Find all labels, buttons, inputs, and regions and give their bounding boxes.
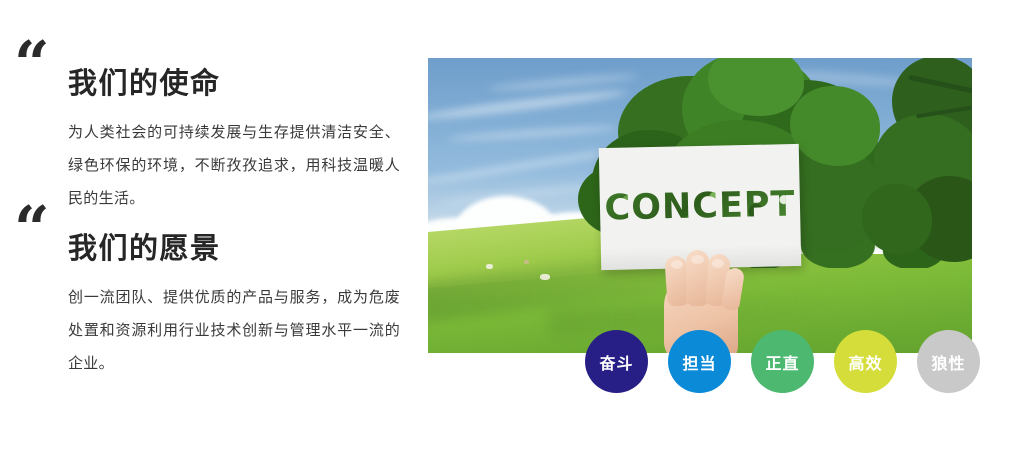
leaf-cluster xyxy=(862,184,932,254)
fingernail xyxy=(671,260,683,269)
mission-paragraph: 为人类社会的可持续发展与生存提供清洁安全、绿色环保的环境，不断孜孜追求，用科技温… xyxy=(68,116,400,215)
mission-body: 我们的使命 为人类社会的可持续发展与生存提供清洁安全、绿色环保的环境，不断孜孜追… xyxy=(68,40,420,215)
core-values-row: 奋斗 担当 正直 高效 狼性 xyxy=(585,330,980,394)
value-circle-label: 担当 xyxy=(682,350,716,374)
value-circle-label: 奋斗 xyxy=(599,350,633,374)
fingernail xyxy=(712,259,724,268)
value-circle-2[interactable]: 担当 xyxy=(668,330,731,393)
vision-block: “ 我们的愿景 创一流团队、提供优质的产品与服务，成为危废处置和资源利用行业技术… xyxy=(0,205,420,380)
value-circle-label: 正直 xyxy=(765,350,799,374)
vision-heading: 我们的愿景 xyxy=(68,231,420,267)
quote-open-icon: “ xyxy=(14,40,48,88)
concept-photo: CONCEPT xyxy=(428,58,972,353)
mission-heading: 我们的使命 xyxy=(68,66,420,102)
meadow-speck xyxy=(524,260,529,264)
text-column: “ 我们的使命 为人类社会的可持续发展与生存提供清洁安全、绿色环保的环境，不断孜… xyxy=(0,0,420,458)
value-circle-label: 狼性 xyxy=(931,350,965,374)
value-circle-4[interactable]: 高效 xyxy=(834,330,897,393)
vision-body: 我们的愿景 创一流团队、提供优质的产品与服务，成为危废处置和资源利用行业技术创新… xyxy=(68,205,420,380)
fingernail xyxy=(691,255,704,264)
edge-foliage xyxy=(862,58,972,267)
mission-vision-slide: “ 我们的使命 为人类社会的可持续发展与生存提供清洁安全、绿色环保的环境，不断孜… xyxy=(0,0,1024,458)
meadow-speck xyxy=(486,264,493,269)
value-circle-label: 高效 xyxy=(848,350,882,374)
value-circle-1[interactable]: 奋斗 xyxy=(585,330,648,393)
concept-cutout-text: CONCEPT xyxy=(600,187,801,226)
meadow-speck xyxy=(540,274,550,280)
mission-block: “ 我们的使命 为人类社会的可持续发展与生存提供清洁安全、绿色环保的环境，不断孜… xyxy=(0,40,420,215)
quote-open-icon: “ xyxy=(14,205,48,253)
value-circle-5[interactable]: 狼性 xyxy=(917,330,980,393)
value-circle-3[interactable]: 正直 xyxy=(751,330,814,393)
vision-paragraph: 创一流团队、提供优质的产品与服务，成为危废处置和资源利用行业技术创新与管理水平一… xyxy=(68,281,400,380)
